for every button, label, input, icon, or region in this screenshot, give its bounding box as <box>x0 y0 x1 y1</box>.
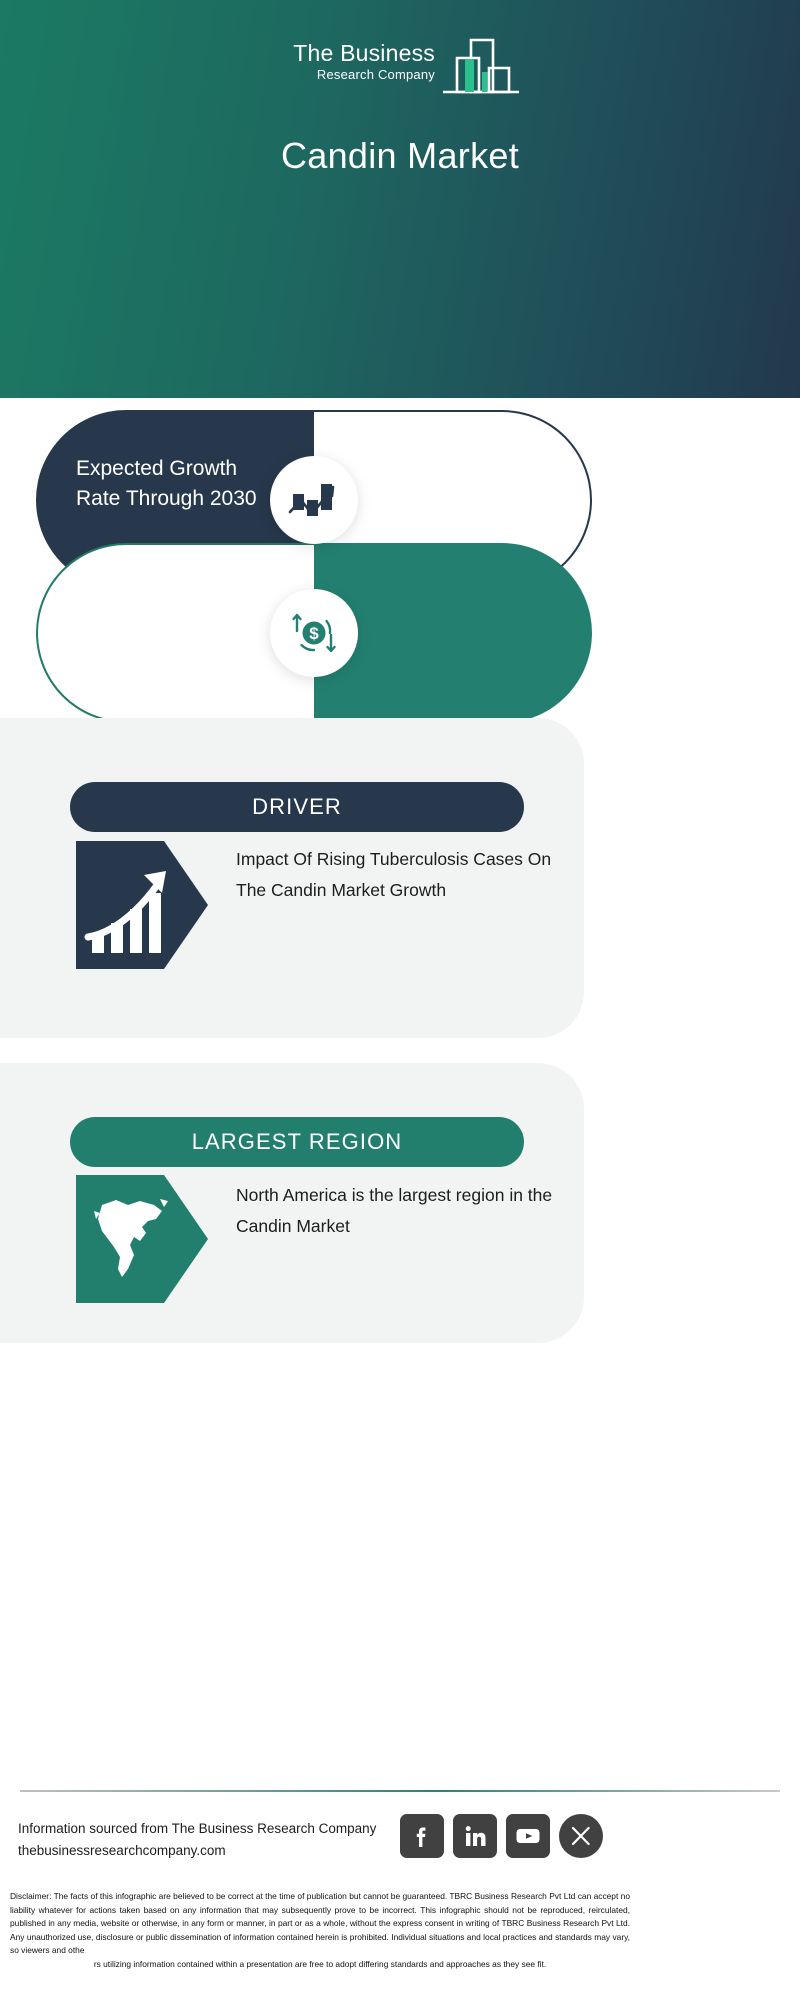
logo-wordmark: The Business Research Company <box>275 42 435 81</box>
x-twitter-icon[interactable] <box>559 1814 603 1858</box>
driver-body-text: Impact Of Rising Tuberculosis Cases On T… <box>236 844 558 906</box>
header-banner: The Business Research Company Candin Mar… <box>0 0 800 398</box>
driver-pill-label: DRIVER <box>252 794 342 820</box>
driver-pill[interactable]: DRIVER <box>70 782 524 832</box>
linkedin-icon[interactable] <box>453 1814 497 1858</box>
footer-website-link[interactable]: thebusinessresearchcompany.com <box>18 1840 438 1862</box>
card-label: Expected Growth Rate Through 2030 <box>76 454 286 514</box>
largest-region-body-text: North America is the largest region in t… <box>236 1180 558 1242</box>
growth-bar-chart-arrow-icon <box>270 456 358 544</box>
disclaimer-text: Disclaimer: The facts of this infographi… <box>10 1890 630 1972</box>
social-links <box>400 1814 640 1858</box>
logo-line-2: Research Company <box>275 68 435 81</box>
footer-source-line-1: Information sourced from The Business Re… <box>18 1818 438 1840</box>
youtube-icon[interactable] <box>506 1814 550 1858</box>
facebook-icon[interactable] <box>400 1814 444 1858</box>
disclaimer-body: Disclaimer: The facts of this infographi… <box>10 1891 630 1955</box>
svg-text:$: $ <box>309 624 319 643</box>
footer-divider <box>20 1790 780 1792</box>
company-logo: The Business Research Company <box>275 28 525 100</box>
bar-chart-building-logo-icon <box>435 28 525 100</box>
largest-region-pill-label: LARGEST REGION <box>192 1129 403 1155</box>
north-america-map-tag-icon <box>76 1175 208 1303</box>
logo-line-1: The Business <box>275 42 435 65</box>
disclaimer-last-line: rs utilizing information contained withi… <box>10 1958 630 1972</box>
page-title: Candin Market <box>0 135 800 177</box>
card-label: Expected Market Size By 2030 <box>644 587 800 647</box>
expected-market-size-card: Expected Market Size By 2030 $ <box>36 543 592 723</box>
growth-arrow-bars-tag-icon <box>76 841 208 969</box>
largest-region-pill[interactable]: LARGEST REGION <box>70 1117 524 1167</box>
dollar-circle-arrows-icon: $ <box>270 589 358 677</box>
footer-source: Information sourced from The Business Re… <box>18 1818 438 1862</box>
